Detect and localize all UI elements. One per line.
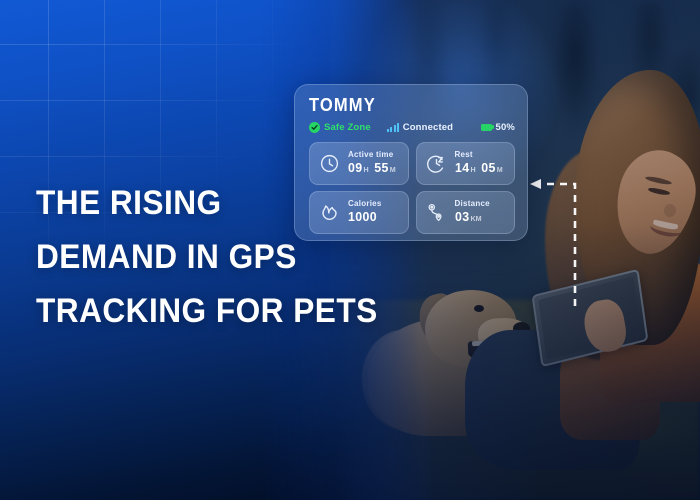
metric-label-distance: Distance xyxy=(455,199,490,208)
metric-value-distance: 03KM xyxy=(455,209,489,226)
dog-eye xyxy=(474,305,484,312)
clock-icon xyxy=(319,153,340,174)
signal-bars-icon xyxy=(387,122,399,132)
status-connection[interactable]: Connected xyxy=(387,122,480,133)
flame-icon xyxy=(319,202,340,223)
metric-tiles-grid: Active time 09H55M Rest 14H05M xyxy=(309,142,515,234)
safe-zone-label: Safe Zone xyxy=(324,122,371,133)
pet-tracker-dashboard-card[interactable]: TOMMY Safe Zone Connected 50% xyxy=(294,84,528,241)
metric-text-distance: Distance 03KM xyxy=(455,199,490,226)
status-battery[interactable]: 50% xyxy=(481,122,515,133)
connection-label: Connected xyxy=(403,122,453,133)
metric-label-active-time: Active time xyxy=(348,150,398,159)
pet-name-title: TOMMY xyxy=(309,96,499,115)
check-circle-icon xyxy=(309,122,320,133)
headline-line-2: DEMAND IN GPS xyxy=(36,230,343,284)
metric-label-rest: Rest xyxy=(455,150,505,159)
metric-tile-calories[interactable]: Calories 1000 xyxy=(309,191,409,234)
battery-icon xyxy=(481,124,492,131)
sleep-clock-icon xyxy=(426,153,447,174)
banner-root: THE RISING DEMAND IN GPS TRACKING FOR PE… xyxy=(0,0,700,500)
metric-value-rest: 14H05M xyxy=(455,160,503,177)
metric-tile-active-time[interactable]: Active time 09H55M xyxy=(309,142,409,185)
metric-tile-distance[interactable]: Distance 03KM xyxy=(416,191,516,234)
metric-label-calories: Calories xyxy=(348,199,382,208)
metric-value-active-time: 09H55M xyxy=(348,160,396,177)
metric-tile-rest[interactable]: Rest 14H05M xyxy=(416,142,516,185)
metric-text-rest: Rest 14H05M xyxy=(455,150,505,177)
metric-text-calories: Calories 1000 xyxy=(348,199,382,226)
status-safe-zone[interactable]: Safe Zone xyxy=(309,122,387,133)
metric-text-active-time: Active time 09H55M xyxy=(348,150,398,177)
headline-line-3: TRACKING FOR PETS xyxy=(36,284,343,338)
metric-value-calories: 1000 xyxy=(348,209,380,226)
route-pin-icon xyxy=(426,202,447,223)
status-row: Safe Zone Connected 50% xyxy=(309,120,515,134)
battery-label: 50% xyxy=(496,122,515,133)
